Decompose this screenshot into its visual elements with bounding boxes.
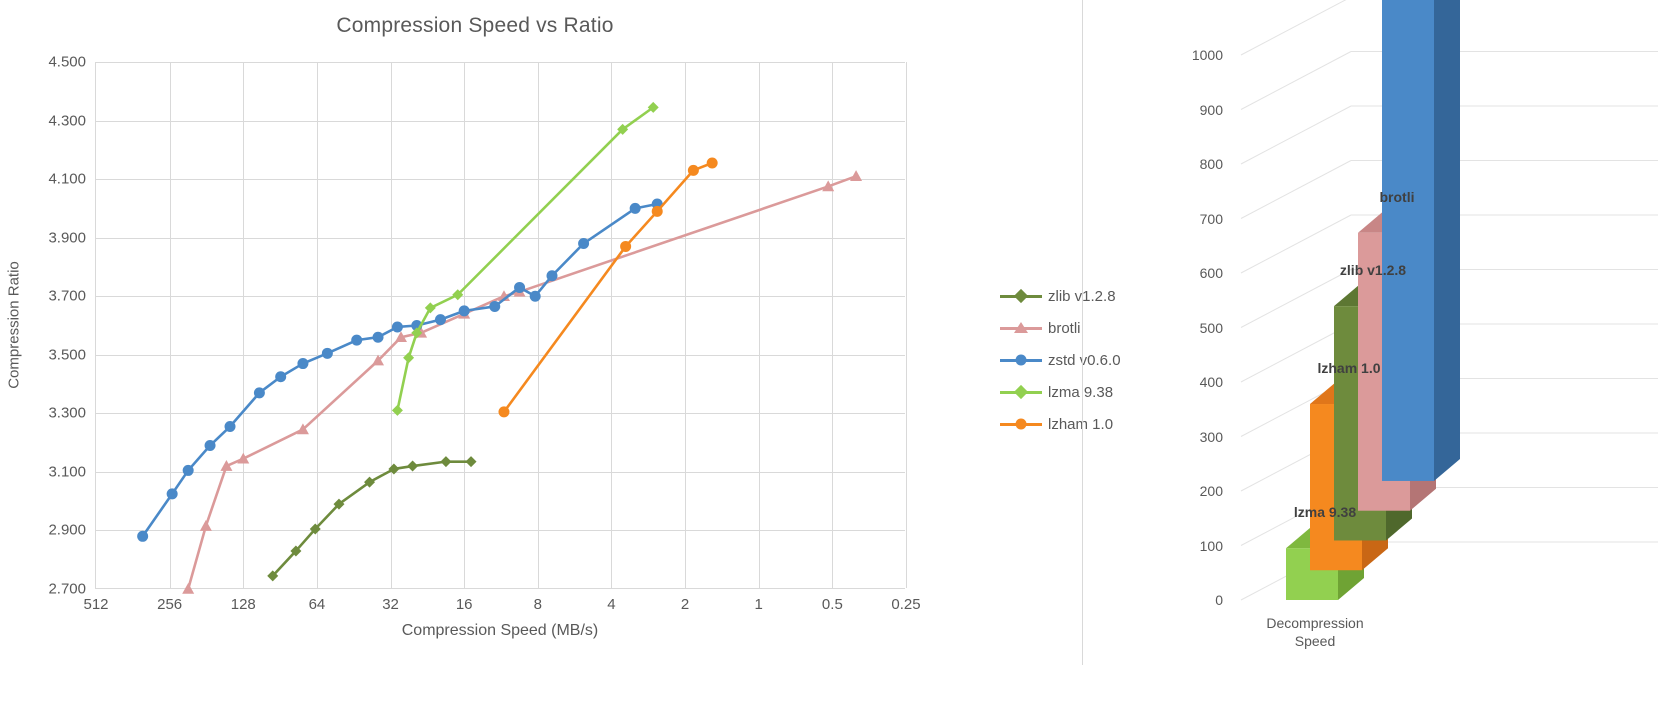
bar-y-axis-tick-label: 600 xyxy=(1200,265,1223,281)
bar-data-label: lzma 9.38 xyxy=(1294,504,1356,520)
x-axis-tick-label: 128 xyxy=(231,596,256,613)
bar-gridline-diagonal xyxy=(1241,106,1351,164)
scatter-x-axis-title: Compression Speed (MB/s) xyxy=(95,622,905,640)
bar-y-axis-tick-label: 800 xyxy=(1200,156,1223,172)
data-point-marker xyxy=(578,238,589,249)
bar-gridline-diagonal xyxy=(1241,215,1351,273)
x-axis-tick-label: 64 xyxy=(309,596,326,613)
bar-data-label: brotli xyxy=(1380,189,1415,205)
bar-y-axis-tick-label: 200 xyxy=(1200,483,1223,499)
data-point-marker xyxy=(373,332,384,343)
bar-y-axis-tick-label: 400 xyxy=(1200,374,1223,390)
chart-page: Compression Speed vs Ratio Compression R… xyxy=(0,0,1670,705)
legend-marker-icon xyxy=(1000,288,1042,304)
scatter-chart-title: Compression Speed vs Ratio xyxy=(0,14,950,38)
y-axis-tick-label: 4.100 xyxy=(48,171,86,188)
legend-item-label: brotli xyxy=(1048,320,1081,337)
data-point-marker xyxy=(620,241,631,252)
legend-marker-icon xyxy=(1000,320,1042,336)
data-point-marker xyxy=(407,461,418,472)
y-axis-tick-label: 4.500 xyxy=(48,54,86,71)
data-point-marker xyxy=(489,301,500,312)
data-point-marker xyxy=(275,371,286,382)
y-axis-tick-label: 2.900 xyxy=(48,522,86,539)
x-axis-tick-label: 16 xyxy=(456,596,473,613)
x-axis-tick-label: 4 xyxy=(607,596,615,613)
x-axis-tick-label: 32 xyxy=(382,596,399,613)
y-axis-tick-label: 3.700 xyxy=(48,288,86,305)
scatter-series-canvas xyxy=(96,62,906,589)
data-point-marker xyxy=(225,421,236,432)
data-point-marker xyxy=(322,348,333,359)
legend-marker-icon xyxy=(1000,352,1042,368)
scatter-plot-area: 4.5004.3004.1003.9003.7003.5003.3003.100… xyxy=(95,62,905,589)
legend-marker-icon xyxy=(1000,416,1042,432)
data-point-marker xyxy=(297,358,308,369)
y-axis-tick-label: 4.300 xyxy=(48,112,86,129)
data-point-marker xyxy=(498,406,509,417)
data-point-marker xyxy=(254,387,265,398)
bar-y-axis-tick-label: 500 xyxy=(1200,320,1223,336)
data-point-marker xyxy=(237,453,249,464)
data-point-marker xyxy=(850,170,862,181)
series-zstd-v0-6-0 xyxy=(137,198,663,541)
data-point-marker xyxy=(530,291,541,302)
x-axis-tick-label: 0.25 xyxy=(891,596,920,613)
y-axis-tick-label: 3.100 xyxy=(48,463,86,480)
y-axis-tick-label: 3.300 xyxy=(48,405,86,422)
bar-y-axis-tick-label: 900 xyxy=(1200,102,1223,118)
data-point-marker xyxy=(137,531,148,542)
bar-cat-label-line2: Speed xyxy=(1150,632,1480,650)
bar-y-axis-tick-label: 0 xyxy=(1215,592,1223,608)
data-point-marker xyxy=(351,335,362,346)
data-point-marker xyxy=(630,203,641,214)
bar-chart-canvas xyxy=(1083,0,1670,705)
series-line xyxy=(188,176,856,589)
data-point-marker xyxy=(403,352,414,363)
bar-y-axis-tick-label: 700 xyxy=(1200,211,1223,227)
bar-front-face xyxy=(1382,0,1434,481)
bar-chart-category-axis-label: Decompression Speed xyxy=(1150,614,1480,650)
data-point-marker xyxy=(514,282,525,293)
data-point-marker xyxy=(425,302,436,313)
series-zlib-v1-2-8 xyxy=(267,456,476,581)
x-axis-tick-label: 256 xyxy=(157,596,182,613)
data-point-marker xyxy=(388,463,399,474)
bar-gridline-diagonal xyxy=(1241,0,1351,55)
bar-y-axis-tick-label: 300 xyxy=(1200,429,1223,445)
bar-y-axis-tick-label: 100 xyxy=(1200,538,1223,554)
data-point-marker xyxy=(200,520,212,531)
bar-data-label: zlib v1.2.8 xyxy=(1340,262,1406,278)
data-point-marker xyxy=(707,158,718,169)
data-point-marker xyxy=(652,206,663,217)
y-axis-tick-label: 3.500 xyxy=(48,346,86,363)
series-brotli xyxy=(182,170,862,594)
data-point-marker xyxy=(392,405,403,416)
data-point-marker xyxy=(167,488,178,499)
bar-gridline-diagonal xyxy=(1241,161,1351,219)
x-axis-tick-label: 512 xyxy=(83,596,108,613)
scatter-y-axis-title: Compression Ratio xyxy=(6,261,23,389)
legend-marker-icon xyxy=(1000,384,1042,400)
bar-gridline-diagonal xyxy=(1241,52,1351,110)
series-line xyxy=(273,462,471,576)
x-axis-tick-label: 0.5 xyxy=(822,596,843,613)
bar-y-axis-tick-label: 1000 xyxy=(1192,47,1223,63)
bar-data-label: lzham 1.0 xyxy=(1317,360,1380,376)
data-point-marker xyxy=(459,305,470,316)
bar-side-face xyxy=(1434,0,1460,481)
data-point-marker xyxy=(182,583,194,594)
x-axis-tick-label: 2 xyxy=(681,596,689,613)
bar-cat-label-line1: Decompression xyxy=(1150,614,1480,632)
data-point-marker xyxy=(183,465,194,476)
data-point-marker xyxy=(466,456,477,467)
data-point-marker xyxy=(547,270,558,281)
data-point-marker xyxy=(440,456,451,467)
x-axis-tick-label: 8 xyxy=(534,596,542,613)
x-axis-tick-label: 1 xyxy=(755,596,763,613)
scatter-chart-panel: Compression Speed vs Ratio Compression R… xyxy=(0,0,1082,705)
bar-chart-panel xyxy=(1083,0,1670,705)
y-axis-tick-label: 2.700 xyxy=(48,581,86,598)
data-point-marker xyxy=(435,314,446,325)
y-axis-tick-label: 3.900 xyxy=(48,229,86,246)
data-point-marker xyxy=(392,321,403,332)
bar-zstd-v0-6-0 xyxy=(1382,0,1460,481)
vertical-gridline xyxy=(906,62,907,588)
data-point-marker xyxy=(205,440,216,451)
data-point-marker xyxy=(688,165,699,176)
